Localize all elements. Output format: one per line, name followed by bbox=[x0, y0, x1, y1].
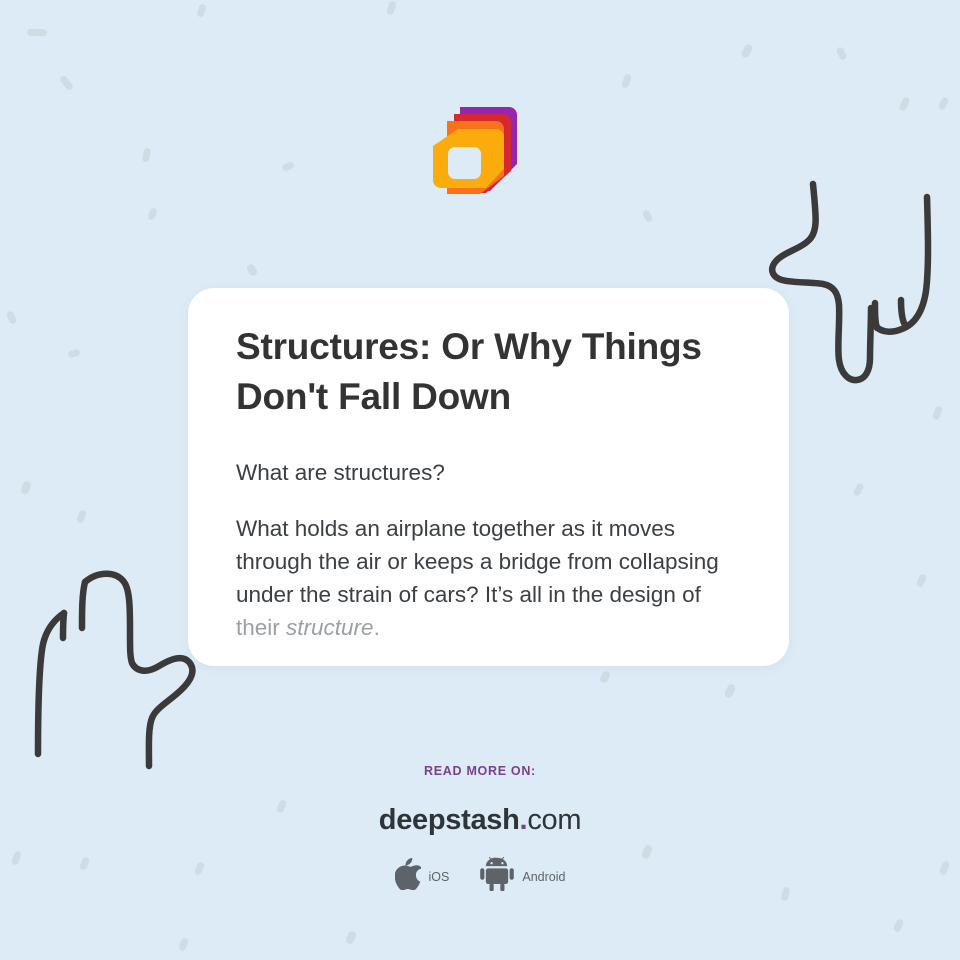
deepstash-logo-svg bbox=[430, 104, 520, 196]
confetti-speck bbox=[386, 0, 397, 15]
ios-badge-label: iOS bbox=[429, 870, 450, 884]
faded-suffix: . bbox=[374, 615, 380, 640]
android-store-badge[interactable]: Android bbox=[480, 857, 565, 896]
apple-icon bbox=[395, 858, 421, 895]
confetti-speck bbox=[937, 96, 949, 111]
page-title: Structures: Or Why Things Don't Fall Dow… bbox=[236, 322, 745, 422]
confetti-speck bbox=[916, 573, 928, 588]
logo-inner-hole bbox=[448, 147, 481, 179]
confetti-speck bbox=[76, 509, 87, 524]
confetti-speck bbox=[621, 73, 632, 88]
card-paragraph-body-text: What holds an airplane together as it mo… bbox=[236, 516, 719, 607]
confetti-speck bbox=[67, 348, 80, 358]
android-icon bbox=[480, 857, 514, 896]
confetti-speck bbox=[932, 405, 944, 421]
confetti-speck bbox=[641, 209, 653, 223]
poster-canvas: Structures: Or Why Things Don't Fall Dow… bbox=[0, 0, 960, 960]
card-inner: Structures: Or Why Things Don't Fall Dow… bbox=[188, 288, 789, 644]
confetti-speck bbox=[147, 207, 158, 221]
confetti-speck bbox=[246, 263, 259, 277]
confetti-speck bbox=[599, 670, 612, 684]
confetti-speck bbox=[20, 480, 32, 495]
faded-prefix: their bbox=[236, 615, 286, 640]
confetti-speck bbox=[345, 930, 358, 945]
store-badges: iOS Android bbox=[0, 857, 960, 896]
ios-store-badge[interactable]: iOS bbox=[395, 858, 450, 895]
confetti-speck bbox=[836, 46, 848, 61]
confetti-speck bbox=[59, 75, 74, 92]
confetti-speck bbox=[898, 96, 910, 112]
confetti-speck bbox=[178, 937, 189, 952]
confetti-speck bbox=[281, 161, 295, 172]
confetti-speck bbox=[6, 310, 18, 325]
card-paragraph-faded: their structure. bbox=[236, 615, 380, 640]
pointing-up-hand-illustration bbox=[20, 558, 212, 791]
faded-italic-word: structure bbox=[286, 615, 374, 640]
confetti-speck bbox=[27, 29, 47, 37]
confetti-speck bbox=[740, 43, 754, 59]
deepstash-logo bbox=[430, 104, 520, 196]
brand-tld: com bbox=[527, 804, 581, 836]
confetti-speck bbox=[893, 918, 905, 933]
card-paragraph-question: What are structures? bbox=[236, 456, 745, 489]
android-badge-label: Android bbox=[522, 870, 565, 884]
confetti-speck bbox=[196, 3, 207, 18]
footer: READ MORE ON: deepstash.com iOS bbox=[0, 764, 960, 896]
confetti-speck bbox=[852, 482, 865, 497]
card-paragraph-body: What holds an airplane together as it mo… bbox=[236, 512, 745, 644]
read-more-label: READ MORE ON: bbox=[0, 764, 960, 778]
brand-name: deepstash bbox=[379, 804, 520, 836]
confetti-speck bbox=[723, 683, 736, 699]
brand-wordmark[interactable]: deepstash.com bbox=[0, 804, 960, 837]
confetti-speck bbox=[142, 147, 152, 162]
content-card: Structures: Or Why Things Don't Fall Dow… bbox=[188, 288, 789, 666]
